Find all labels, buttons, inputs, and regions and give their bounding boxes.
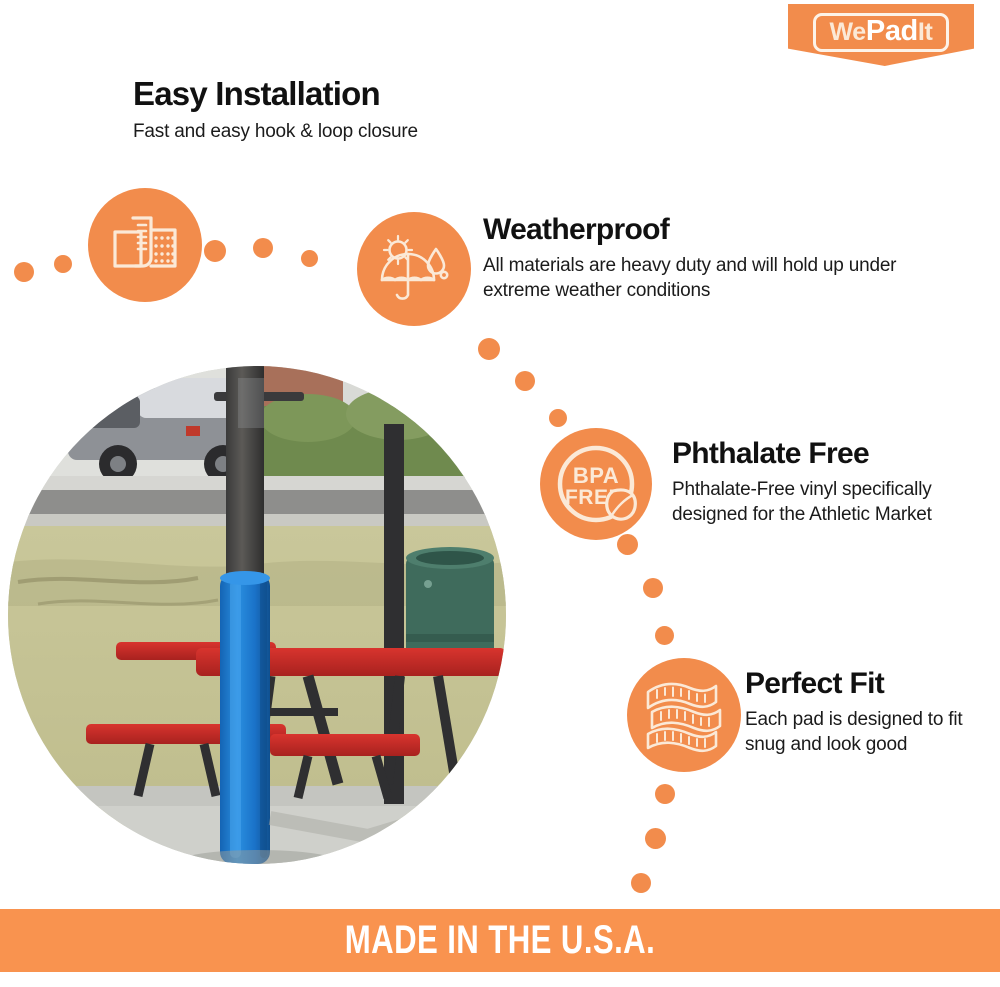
umbrella-sun-raindrop-icon <box>376 233 452 305</box>
page-title: Easy Installation <box>133 76 653 112</box>
feature-block-phthalate-free: Phthalate Free Phthalate-Free vinyl spec… <box>672 437 972 527</box>
page-subtitle: Fast and easy hook & loop closure <box>133 121 653 143</box>
feature-description-phthalate-free: Phthalate-Free vinyl specifically design… <box>672 477 972 527</box>
path-dot <box>54 255 72 273</box>
path-dot <box>655 626 674 645</box>
feature-title-perfect-fit: Perfect Fit <box>745 667 990 701</box>
path-dot <box>655 784 675 804</box>
path-dot <box>617 534 638 555</box>
feature-icon-weatherproof <box>357 212 471 326</box>
path-dot <box>204 240 226 262</box>
feature-description-weatherproof: All materials are heavy duty and will ho… <box>483 253 903 303</box>
header-block: Easy Installation Fast and easy hook & l… <box>133 76 653 143</box>
path-dot <box>253 238 273 258</box>
svg-text:BPA: BPA <box>573 463 619 488</box>
brand-logo-badge: We Pad It <box>788 4 974 66</box>
infographic-canvas: We Pad It Easy Installation Fast and eas… <box>0 0 1000 987</box>
path-dot <box>515 371 535 391</box>
made-in-usa-banner: MADE IN THE U.S.A. <box>0 909 1000 972</box>
path-dot <box>478 338 500 360</box>
bpa-free-leaf-icon: BPA FREE <box>549 437 643 531</box>
brand-logo-it: It <box>918 20 933 45</box>
feature-description-perfect-fit: Each pad is designed to fit snug and loo… <box>745 707 990 757</box>
feature-title-weatherproof: Weatherproof <box>483 213 903 247</box>
made-in-usa-text: MADE IN THE U.S.A. <box>345 918 655 963</box>
brand-logo-pad: Pad <box>866 17 918 46</box>
feature-block-weatherproof: Weatherproof All materials are heavy dut… <box>483 213 903 303</box>
brand-logo-frame: We Pad It <box>813 13 948 52</box>
path-dot <box>14 262 34 282</box>
feature-icon-easy-installation <box>88 188 202 302</box>
measuring-tape-icon <box>642 676 726 754</box>
feature-block-perfect-fit: Perfect Fit Each pad is designed to fit … <box>745 667 990 757</box>
brand-logo-we: We <box>829 20 865 45</box>
feature-icon-perfect-fit <box>627 658 741 772</box>
product-photo <box>8 366 506 864</box>
feature-title-phthalate-free: Phthalate Free <box>672 437 972 471</box>
hook-and-loop-closure-icon <box>111 214 179 276</box>
path-dot <box>645 828 666 849</box>
path-dot <box>549 409 567 427</box>
path-dot <box>643 578 663 598</box>
path-dot <box>631 873 651 893</box>
product-photo-illustration <box>8 366 506 864</box>
path-dot <box>301 250 318 267</box>
feature-icon-phthalate-free: BPA FREE <box>540 428 652 540</box>
